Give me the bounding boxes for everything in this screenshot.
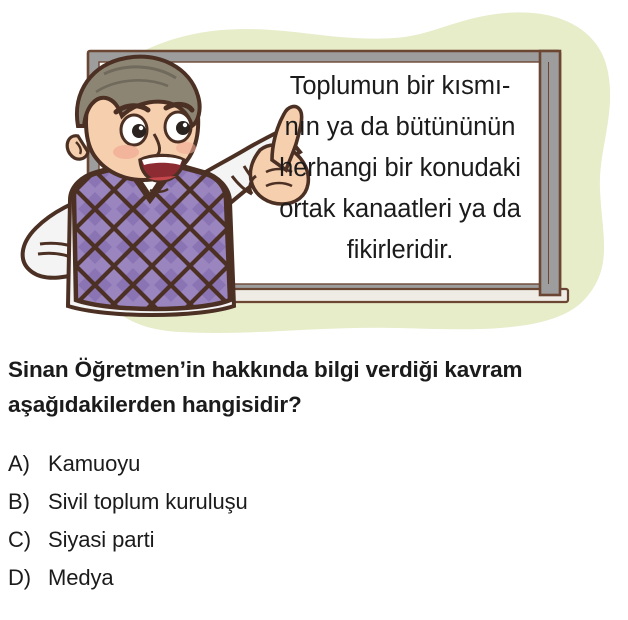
option-c-text: Siyasi parti xyxy=(48,527,620,553)
question-stem: Sinan Öğretmen’in hakkında bilgi verdiği… xyxy=(8,352,620,422)
option-a-text: Kamuoyu xyxy=(48,451,620,477)
option-c-label: C) xyxy=(8,527,48,553)
option-b[interactable]: B) Sivil toplum kuruluşu xyxy=(8,489,620,527)
option-a-label: A) xyxy=(8,451,48,477)
answer-options: A) Kamuoyu B) Sivil toplum kuruluşu C) S… xyxy=(8,451,620,603)
option-c[interactable]: C) Siyasi parti xyxy=(8,527,620,565)
question-page: Toplumun bir kısmı- nın ya da bütününün … xyxy=(0,0,628,620)
option-d-label: D) xyxy=(8,565,48,591)
option-a[interactable]: A) Kamuoyu xyxy=(8,451,620,489)
option-d-text: Medya xyxy=(48,565,620,591)
whiteboard-message: Toplumun bir kısmı- nın ya da bütününün … xyxy=(252,66,548,271)
option-d[interactable]: D) Medya xyxy=(8,565,620,603)
option-b-text: Sivil toplum kuruluşu xyxy=(48,489,620,515)
option-b-label: B) xyxy=(8,489,48,515)
